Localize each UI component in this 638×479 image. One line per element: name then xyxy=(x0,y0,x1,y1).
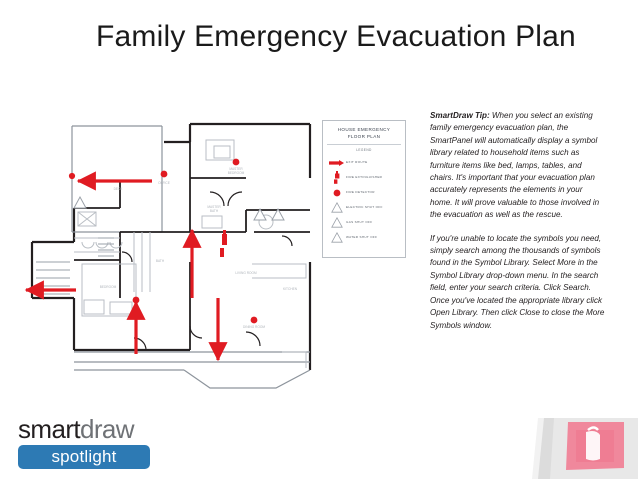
logo-spotlight-band: spotlight xyxy=(18,445,150,469)
svg-text:DINING ROOM: DINING ROOM xyxy=(243,325,265,329)
electric-shut-off-icon xyxy=(74,197,86,208)
legend-divider xyxy=(327,144,401,145)
svg-text:OFFICE: OFFICE xyxy=(158,181,170,185)
slide: Family Emergency Evacuation Plan xyxy=(0,0,638,479)
svg-text:DECK: DECK xyxy=(114,187,124,191)
svg-text:KITCHEN: KITCHEN xyxy=(283,287,298,291)
logo-wordmark: smartdraw xyxy=(18,415,168,443)
tip-text-block: SmartDraw Tip: When you select an existi… xyxy=(430,110,606,343)
fire-detector-icon xyxy=(69,173,75,179)
room-labels: DECK MASTER BEDROOM MASTER BATH OFFICE B… xyxy=(100,167,298,329)
legend-entry-list: EXIT ROUTE FIRE EXTINGUISHER FIRE DETECT… xyxy=(323,155,405,245)
logo-spotlight-text: spotlight xyxy=(51,447,116,467)
legend-entry-label: FIRE EXTINGUISHER xyxy=(346,175,382,180)
smartdraw-logo: smartdraw spotlight xyxy=(18,415,168,469)
gas-shut-off-icon xyxy=(328,217,346,228)
legend-title-line2: FLOOR PLAN xyxy=(323,133,405,140)
photo-svg xyxy=(524,418,638,479)
fire-extinguisher-sign-photo xyxy=(524,418,638,479)
legend-entry: WATER SHUT OFF xyxy=(323,230,405,245)
legend-entry-label: EXIT ROUTE xyxy=(346,160,368,165)
svg-text:BATH: BATH xyxy=(156,259,165,263)
logo-smart-text: smart xyxy=(18,414,80,444)
legend-entry-label: ELECTRIC SHUT OFF xyxy=(346,205,383,210)
fire-extinguisher-icon xyxy=(328,171,346,184)
electric-shut-off-icon xyxy=(328,202,346,213)
legend-subtitle: LEGEND xyxy=(323,148,405,152)
exit-route-icon xyxy=(328,160,346,166)
svg-text:LIVING ROOM: LIVING ROOM xyxy=(235,271,257,275)
legend-entry: EXIT ROUTE xyxy=(323,155,405,170)
fire-detector-icon xyxy=(251,317,258,324)
legend-title-line1: HOUSE EMERGENCY xyxy=(323,126,405,133)
legend-entry: GAS SHUT OFF xyxy=(323,215,405,230)
tip-lead-label: SmartDraw Tip: xyxy=(430,111,490,120)
legend-title: HOUSE EMERGENCY FLOOR PLAN xyxy=(323,121,405,140)
legend-entry: ELECTRIC SHUT OFF xyxy=(323,200,405,215)
legend-entry: FIRE DETECTOR xyxy=(323,185,405,200)
fire-extinguisher-icon xyxy=(220,230,227,257)
page-title: Family Emergency Evacuation Plan xyxy=(96,20,596,54)
legend-entry-label: GAS SHUT OFF xyxy=(346,220,372,225)
legend-entry-label: FIRE DETECTOR xyxy=(346,190,375,195)
tip-paragraph-2: If you're unable to locate the symbols y… xyxy=(430,233,606,332)
svg-text:BEDROOM: BEDROOM xyxy=(228,171,245,175)
tip-paragraph-1-body: When you select an existing family emerg… xyxy=(430,111,599,219)
tip-paragraph-1: SmartDraw Tip: When you select an existi… xyxy=(430,110,606,222)
legend-entry-label: WATER SHUT OFF xyxy=(346,235,377,240)
legend-entry: FIRE EXTINGUISHER xyxy=(323,170,405,185)
svg-text:BATH: BATH xyxy=(210,209,219,213)
fire-detector-icon xyxy=(328,189,346,197)
legend-box: HOUSE EMERGENCY FLOOR PLAN LEGEND EXIT R… xyxy=(322,120,406,258)
water-shut-off-icon xyxy=(328,232,346,243)
logo-draw-text: draw xyxy=(80,414,134,444)
exterior-walls xyxy=(32,124,310,370)
fire-detector-icon xyxy=(161,171,168,178)
svg-text:BEDROOM: BEDROOM xyxy=(100,285,117,289)
fire-detector-icon xyxy=(233,159,240,166)
